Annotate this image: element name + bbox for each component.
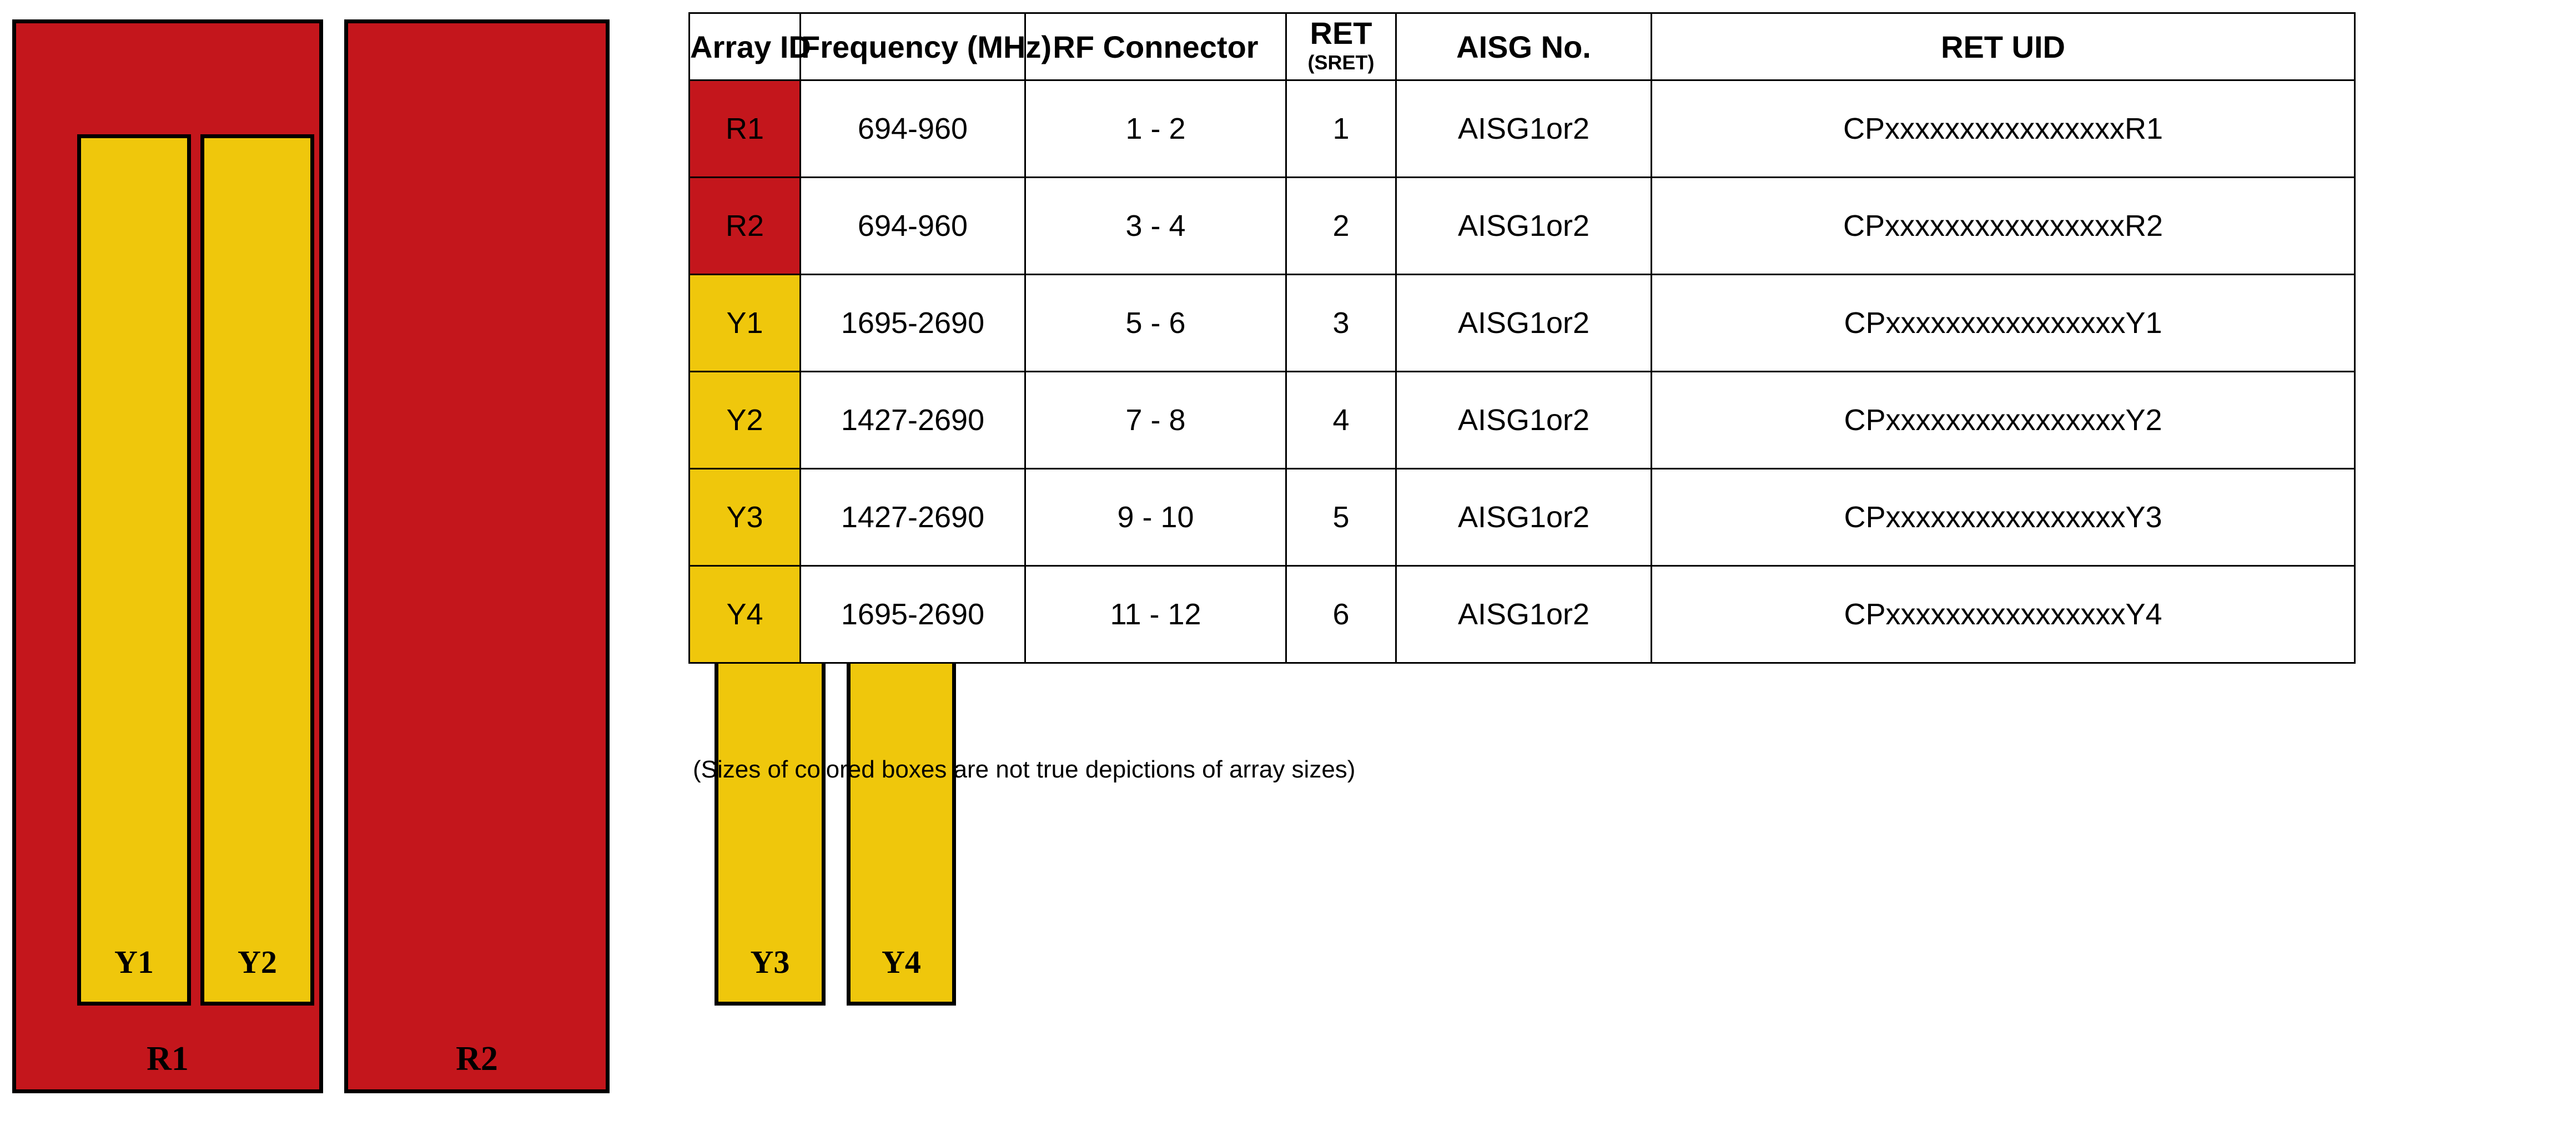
sub-array-y1: Y1 [77,134,191,1006]
cell-ret: 4 [1286,372,1396,469]
table-row: Y4 1695-2690 11 - 12 6 AISG1or2 CPxxxxxx… [690,566,2355,663]
table-row: Y1 1695-2690 5 - 6 3 AISG1or2 CPxxxxxxxx… [690,275,2355,372]
cell-ret-uid: CPxxxxxxxxxxxxxxxxY3 [1652,469,2355,566]
cell-frequency: 694-960 [801,178,1025,275]
table-body: R1 694-960 1 - 2 1 AISG1or2 CPxxxxxxxxxx… [690,80,2355,663]
column-header-array-id: Array ID [690,13,801,80]
column-header-frequency: Frequency (MHz) [801,13,1025,80]
cell-array-id: Y2 [690,372,801,469]
cell-frequency: 1427-2690 [801,372,1025,469]
array-diagram: Y1 Y2 R1 Y3 Y4 R2 [0,0,677,1121]
table-row: R1 694-960 1 - 2 1 AISG1or2 CPxxxxxxxxxx… [690,80,2355,178]
cell-ret-uid: CPxxxxxxxxxxxxxxxxY1 [1652,275,2355,372]
cell-array-id: Y4 [690,566,801,663]
column-header-ret-main: RET [1287,17,1395,50]
cell-rf-connector: 5 - 6 [1025,275,1286,372]
cell-aisg-no: AISG1or2 [1396,372,1652,469]
array-configuration-table: Array ID Frequency (MHz) RF Connector RE… [688,12,2356,664]
cell-ret: 6 [1286,566,1396,663]
cell-ret-uid: CPxxxxxxxxxxxxxxxxR1 [1652,80,2355,178]
cell-aisg-no: AISG1or2 [1396,275,1652,372]
sub-array-y2: Y2 [200,134,314,1006]
array-panel-r2: Y3 Y4 R2 [344,19,610,1093]
column-header-ret-uid: RET UID [1652,13,2355,80]
sub-array-label-y3: Y3 [718,946,822,978]
cell-aisg-no: AISG1or2 [1396,469,1652,566]
sub-array-label-y4: Y4 [851,946,952,978]
sub-array-label-y2: Y2 [204,946,310,978]
cell-ret: 5 [1286,469,1396,566]
cell-rf-connector: 1 - 2 [1025,80,1286,178]
cell-frequency: 1695-2690 [801,566,1025,663]
cell-rf-connector: 3 - 4 [1025,178,1286,275]
cell-rf-connector: 11 - 12 [1025,566,1286,663]
cell-rf-connector: 9 - 10 [1025,469,1286,566]
array-panel-label-r1: R1 [16,1042,319,1076]
column-header-ret: RET (SRET) [1286,13,1396,80]
cell-ret-uid: CPxxxxxxxxxxxxxxxxY2 [1652,372,2355,469]
cell-ret: 1 [1286,80,1396,178]
cell-array-id: R1 [690,80,801,178]
cell-rf-connector: 7 - 8 [1025,372,1286,469]
cell-frequency: 694-960 [801,80,1025,178]
column-header-aisg-no: AISG No. [1396,13,1652,80]
column-header-rf-connector: RF Connector [1025,13,1286,80]
cell-ret-uid: CPxxxxxxxxxxxxxxxxY4 [1652,566,2355,663]
table-row: Y2 1427-2690 7 - 8 4 AISG1or2 CPxxxxxxxx… [690,372,2355,469]
cell-frequency: 1695-2690 [801,275,1025,372]
column-header-ret-sub: (SRET) [1287,50,1395,76]
cell-array-id: Y1 [690,275,801,372]
table-header-row: Array ID Frequency (MHz) RF Connector RE… [690,13,2355,80]
cell-ret: 3 [1286,275,1396,372]
cell-ret-uid: CPxxxxxxxxxxxxxxxxR2 [1652,178,2355,275]
cell-array-id: Y3 [690,469,801,566]
cell-aisg-no: AISG1or2 [1396,566,1652,663]
sub-array-label-y1: Y1 [81,946,187,978]
cell-aisg-no: AISG1or2 [1396,80,1652,178]
cell-aisg-no: AISG1or2 [1396,178,1652,275]
diagram-footnote: (Sizes of colored boxes are not true dep… [693,756,1355,784]
array-panel-label-r2: R2 [348,1042,606,1076]
cell-frequency: 1427-2690 [801,469,1025,566]
array-configuration-table-wrapper: Array ID Frequency (MHz) RF Connector RE… [688,12,2354,664]
table-row: R2 694-960 3 - 4 2 AISG1or2 CPxxxxxxxxxx… [690,178,2355,275]
cell-array-id: R2 [690,178,801,275]
table-row: Y3 1427-2690 9 - 10 5 AISG1or2 CPxxxxxxx… [690,469,2355,566]
array-panel-r1: Y1 Y2 R1 [12,19,323,1093]
cell-ret: 2 [1286,178,1396,275]
